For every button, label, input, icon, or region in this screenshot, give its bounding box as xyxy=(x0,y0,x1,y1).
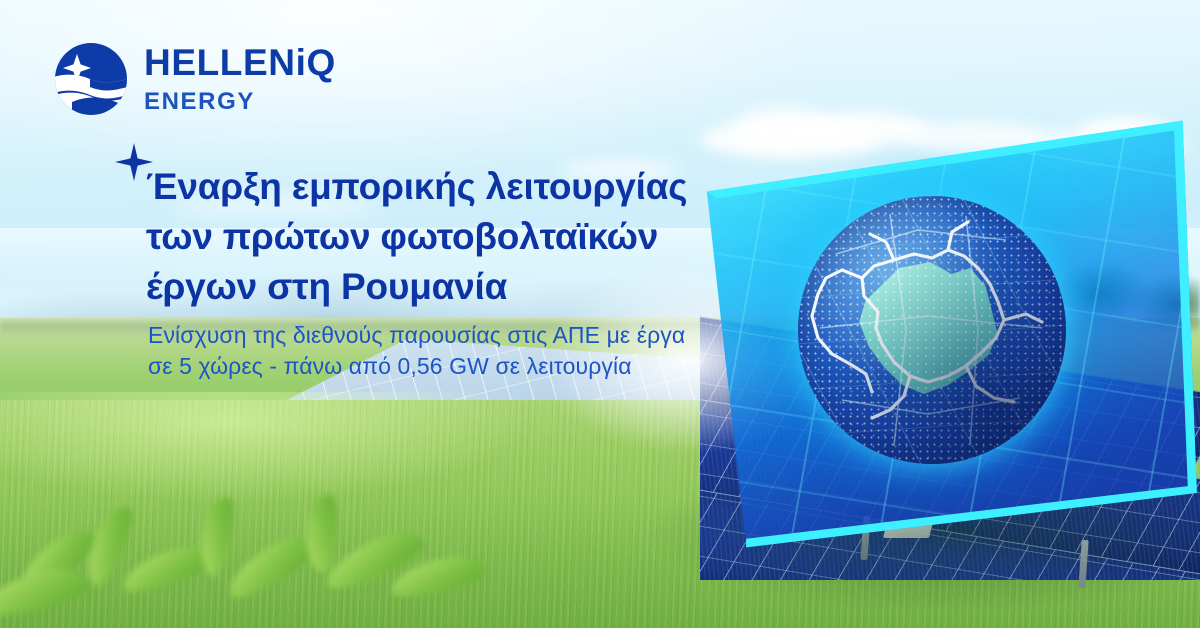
subhead-line-1: Ενίσχυση της διεθνούς παρουσίας στις ΑΠΕ… xyxy=(148,320,748,351)
logo-wordmark: HELLENiQ ENERGY xyxy=(144,44,336,114)
foreground-leaves xyxy=(0,500,530,628)
globe-shading xyxy=(798,196,1066,464)
logo-subname: ENERGY xyxy=(144,90,336,114)
globe-display-graphic xyxy=(690,118,1200,558)
logo-name: HELLENiQ xyxy=(144,44,336,81)
subhead-line-2: σε 5 χώρες - πάνω από 0,56 GW σε λειτουρ… xyxy=(148,351,748,382)
logo-mark-icon xyxy=(52,40,130,118)
hellenic-energy-logo[interactable]: HELLENiQ ENERGY xyxy=(52,36,352,122)
page-title: Έναρξη εμπορικής λειτουργίας των πρώτων … xyxy=(146,162,766,312)
headline-line-1: Έναρξη εμπορικής λειτουργίας xyxy=(146,162,766,212)
page-subtitle: Ενίσχυση της διεθνούς παρουσίας στις ΑΠΕ… xyxy=(148,320,748,382)
headline-line-3: έργων στη Ρουμανία xyxy=(146,262,766,312)
promo-banner: HELLENiQ ENERGY Έναρξη εμπορικής λειτουρ… xyxy=(0,0,1200,628)
globe-icon xyxy=(798,196,1066,464)
headline-line-2: των πρώτων φωτοβολταϊκών xyxy=(146,212,766,262)
